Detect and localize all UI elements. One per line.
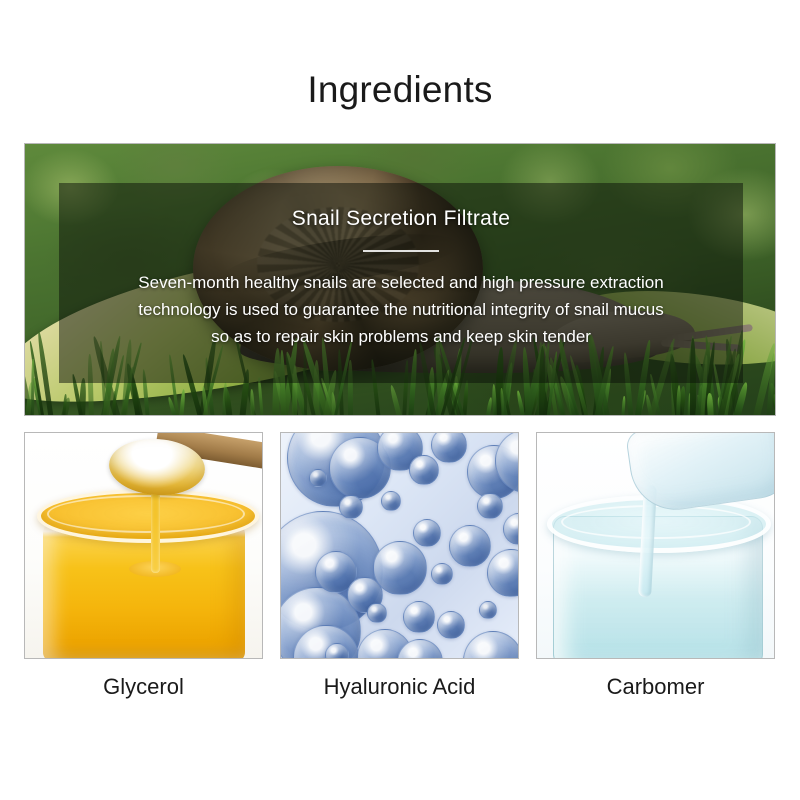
bubble-shape bbox=[431, 432, 467, 463]
ingredient-label-glycerol: Glycerol bbox=[24, 673, 263, 701]
bubble-shape bbox=[503, 513, 519, 545]
carbomer-thumbnail[interactable] bbox=[536, 432, 775, 659]
bubble-shape bbox=[403, 601, 435, 633]
grass-blade bbox=[179, 389, 186, 415]
bubble-shape bbox=[487, 549, 519, 597]
bubble-shape bbox=[367, 603, 387, 623]
ingredient-card-glycerol[interactable]: Glycerol bbox=[24, 432, 263, 701]
hero-description-line-1: technology is used to guarantee the nutr… bbox=[81, 296, 721, 323]
glycerol-thumbnail[interactable] bbox=[24, 432, 263, 659]
bubbles-layer bbox=[281, 433, 518, 658]
bubble-shape bbox=[381, 491, 401, 511]
bubble-shape bbox=[339, 495, 363, 519]
grass-blade bbox=[113, 391, 117, 415]
hero-banner: Snail Secretion Filtrate Seven-month hea… bbox=[24, 143, 776, 416]
hero-description: Seven-month healthy snails are selected … bbox=[81, 269, 721, 350]
bubble-shape bbox=[431, 563, 453, 585]
hero-description-line-0: Seven-month healthy snails are selected … bbox=[81, 269, 721, 296]
hero-description-line-2: so as to repair skin problems and keep s… bbox=[81, 323, 721, 350]
honey-jar-inner-rim-shape bbox=[47, 495, 245, 533]
grass-blade bbox=[60, 397, 72, 415]
grass-blade bbox=[249, 389, 254, 415]
bubble-shape bbox=[463, 631, 519, 659]
carbomer-jar-inner-rim-shape bbox=[561, 505, 751, 539]
ingredient-card-carbomer[interactable]: Carbomer bbox=[536, 432, 775, 701]
page-title: Ingredients bbox=[0, 68, 800, 112]
ingredients-page: Ingredients Snail Secretion Filtrate Sev… bbox=[0, 0, 800, 800]
bubble-shape bbox=[437, 611, 465, 639]
hyaluronic-acid-thumbnail[interactable] bbox=[280, 432, 519, 659]
ingredient-card-hyaluronic-acid[interactable]: Hyaluronic Acid bbox=[280, 432, 519, 701]
grass-blade bbox=[31, 359, 35, 415]
bubble-shape bbox=[409, 455, 439, 485]
bubble-shape bbox=[413, 519, 441, 547]
hero-title-divider bbox=[363, 250, 439, 252]
grass-blade bbox=[389, 385, 403, 415]
ingredient-label-hyaluronic-acid: Hyaluronic Acid bbox=[280, 673, 519, 701]
ingredient-card-list: Glycerol Hyaluronic Acid Carbomer bbox=[24, 432, 776, 701]
honey-stream-shape bbox=[151, 487, 160, 573]
grass-blade bbox=[621, 396, 626, 415]
bubble-shape bbox=[477, 493, 503, 519]
hero-caption-panel: Snail Secretion Filtrate Seven-month hea… bbox=[59, 183, 743, 383]
hero-title: Snail Secretion Filtrate bbox=[59, 205, 743, 233]
ingredient-label-carbomer: Carbomer bbox=[536, 673, 775, 701]
bubble-shape bbox=[479, 601, 497, 619]
bubble-shape bbox=[449, 525, 491, 567]
grass-blade bbox=[676, 385, 681, 415]
bubble-shape bbox=[309, 469, 327, 487]
bubble-shape bbox=[373, 541, 427, 595]
